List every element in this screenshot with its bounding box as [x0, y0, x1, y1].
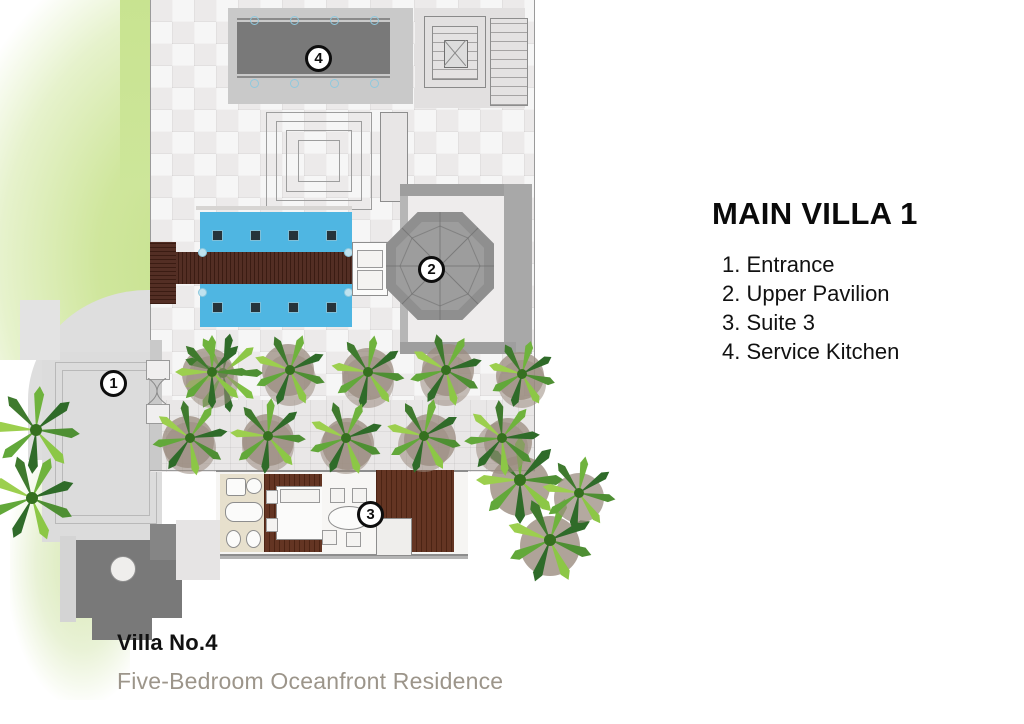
- plan-marker-3[interactable]: 3: [357, 501, 384, 528]
- bathroom-wc: [226, 530, 241, 548]
- dining-chair: [330, 488, 345, 503]
- pool-timber-deck-crossing: [150, 252, 358, 284]
- service-roof-ridge-north: [237, 18, 390, 20]
- roof-fixing-icon: [250, 79, 259, 88]
- nightstand-left: [266, 490, 278, 504]
- adjacent-villa-edge: [60, 536, 76, 622]
- adjacent-villa-fixture: [110, 556, 136, 582]
- bathroom-bathtub: [225, 502, 263, 522]
- pool-fitting-icon: [198, 288, 207, 297]
- plan-marker-3-number: 3: [366, 507, 374, 522]
- daybed-cushion: [357, 250, 383, 268]
- entrance-door-leaf-upper: [146, 360, 170, 380]
- palm-tree-east-2: [500, 490, 600, 590]
- palm-tree-east-3: [536, 450, 622, 536]
- plan-marker-1-number: 1: [109, 376, 117, 391]
- roof-fixing-icon: [330, 79, 339, 88]
- suite-3-terrace-steps: [376, 518, 412, 556]
- daybed-mattress: [357, 270, 383, 290]
- adjacent-villa-court: [176, 520, 220, 580]
- roof-fixing-icon: [290, 16, 299, 25]
- nightstand-right: [266, 518, 278, 532]
- roof-fixing-icon: [250, 16, 259, 25]
- pavilion-wall-south: [400, 342, 516, 354]
- entrance-door-leaf-lower: [146, 404, 170, 424]
- pool-light-icon: [326, 230, 337, 241]
- legend-item-3[interactable]: 3. Suite 3: [722, 308, 1012, 337]
- bed-pillows: [280, 489, 320, 503]
- roof-fixing-icon: [290, 79, 299, 88]
- dining-chair: [352, 488, 367, 503]
- plan-marker-2-number: 2: [427, 262, 435, 277]
- plan-marker-4[interactable]: 4: [305, 45, 332, 72]
- stair-flight-secondary: [490, 18, 528, 106]
- legend-list: 1. Entrance 2. Upper Pavilion 3. Suite 3…: [712, 250, 1012, 366]
- pavilion-wall-east: [504, 184, 532, 354]
- pool-fitting-icon: [198, 248, 207, 257]
- site-plan-graphic: 1 2 3 4: [0, 0, 640, 724]
- boundary-east: [534, 0, 535, 470]
- pool-light-icon: [212, 230, 223, 241]
- dining-chair: [346, 532, 361, 547]
- plan-canvas: 1 2 3 4: [0, 0, 1024, 724]
- pool-light-icon: [212, 302, 223, 313]
- forecourt-north-strip: [20, 300, 60, 360]
- roof-fixing-icon: [330, 16, 339, 25]
- pavilion-wall-north: [400, 184, 516, 196]
- plan-marker-2[interactable]: 2: [418, 256, 445, 283]
- villa-name-caption: Villa No.4: [117, 630, 218, 656]
- legend-item-1[interactable]: 1. Entrance: [722, 250, 1012, 279]
- legend-item-2[interactable]: 2. Upper Pavilion: [722, 279, 1012, 308]
- pool-light-icon: [250, 302, 261, 313]
- legend-title: MAIN VILLA 1: [712, 196, 1012, 232]
- pool-light-icon: [250, 230, 261, 241]
- bathroom-bidet: [246, 530, 261, 548]
- service-roof-ridge-south: [237, 76, 390, 78]
- legend-item-4[interactable]: 4. Service Kitchen: [722, 337, 1012, 366]
- roof-fixing-icon: [370, 16, 379, 25]
- villa-subtitle-caption: Five-Bedroom Oceanfront Residence: [117, 668, 503, 695]
- suite-3-edge-south: [216, 556, 468, 559]
- courtyard-feature-ring-4: [298, 140, 340, 182]
- entrance-door-swing-icon: [146, 378, 168, 404]
- dining-chair: [322, 530, 337, 545]
- bathroom-shower-drain-icon: [246, 478, 262, 494]
- pool-light-icon: [288, 302, 299, 313]
- stair-void-cross-icon: [444, 40, 466, 66]
- pool-light-icon: [326, 302, 337, 313]
- plan-marker-1[interactable]: 1: [100, 370, 127, 397]
- pool-timber-deck-west: [150, 242, 176, 304]
- bathroom-basin: [226, 478, 246, 496]
- roof-fixing-icon: [370, 79, 379, 88]
- pool-coping-north: [196, 206, 352, 210]
- stone-paving-south: [150, 400, 535, 472]
- legend-panel: MAIN VILLA 1 1. Entrance 2. Upper Pavili…: [712, 196, 1012, 366]
- pool-light-icon: [288, 230, 299, 241]
- plan-marker-4-number: 4: [314, 51, 322, 66]
